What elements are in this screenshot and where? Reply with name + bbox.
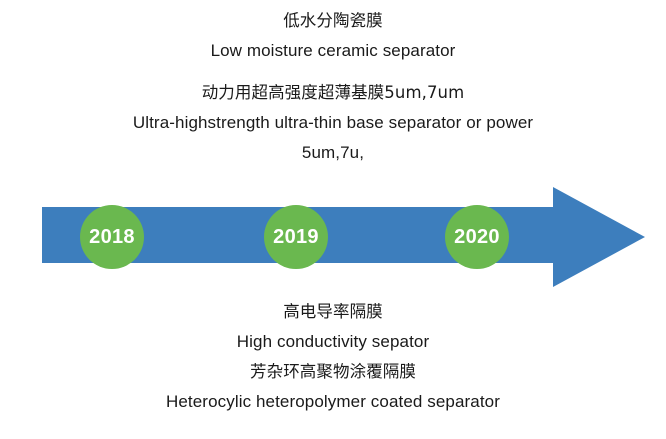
bottom-text-line-2: High conductivity sepator [0, 327, 666, 357]
bottom-text-line-4: Heterocylic heteropolymer coated separat… [0, 387, 666, 417]
bottom-text-line-1: 高电导率隔膜 [0, 297, 666, 327]
top-text-line-5: 5um,7u, [0, 138, 666, 168]
milestone-2020[interactable]: 2020 [445, 205, 509, 269]
milestone-2018[interactable]: 2018 [80, 205, 144, 269]
bottom-text-line-3: 芳杂环高聚物涂覆隔膜 [0, 357, 666, 387]
milestone-2020-label: 2020 [454, 227, 500, 247]
bottom-text-block: 高电导率隔膜 High conductivity sepator 芳杂环高聚物涂… [0, 297, 666, 417]
top-text-line-1: 低水分陶瓷膜 [0, 6, 666, 36]
top-text-line-2: Low moisture ceramic separator [0, 36, 666, 66]
top-text-block: 低水分陶瓷膜 Low moisture ceramic separator 动力… [0, 6, 666, 168]
milestone-2019-label: 2019 [273, 227, 319, 247]
milestone-2018-label: 2018 [89, 227, 135, 247]
top-text-line-3: 动力用超高强度超薄基膜5um,7um [0, 78, 666, 108]
milestone-2019[interactable]: 2019 [264, 205, 328, 269]
timeline-diagram: 低水分陶瓷膜 Low moisture ceramic separator 动力… [0, 0, 666, 439]
top-text-line-4: Ultra-highstrength ultra-thin base separ… [0, 108, 666, 138]
